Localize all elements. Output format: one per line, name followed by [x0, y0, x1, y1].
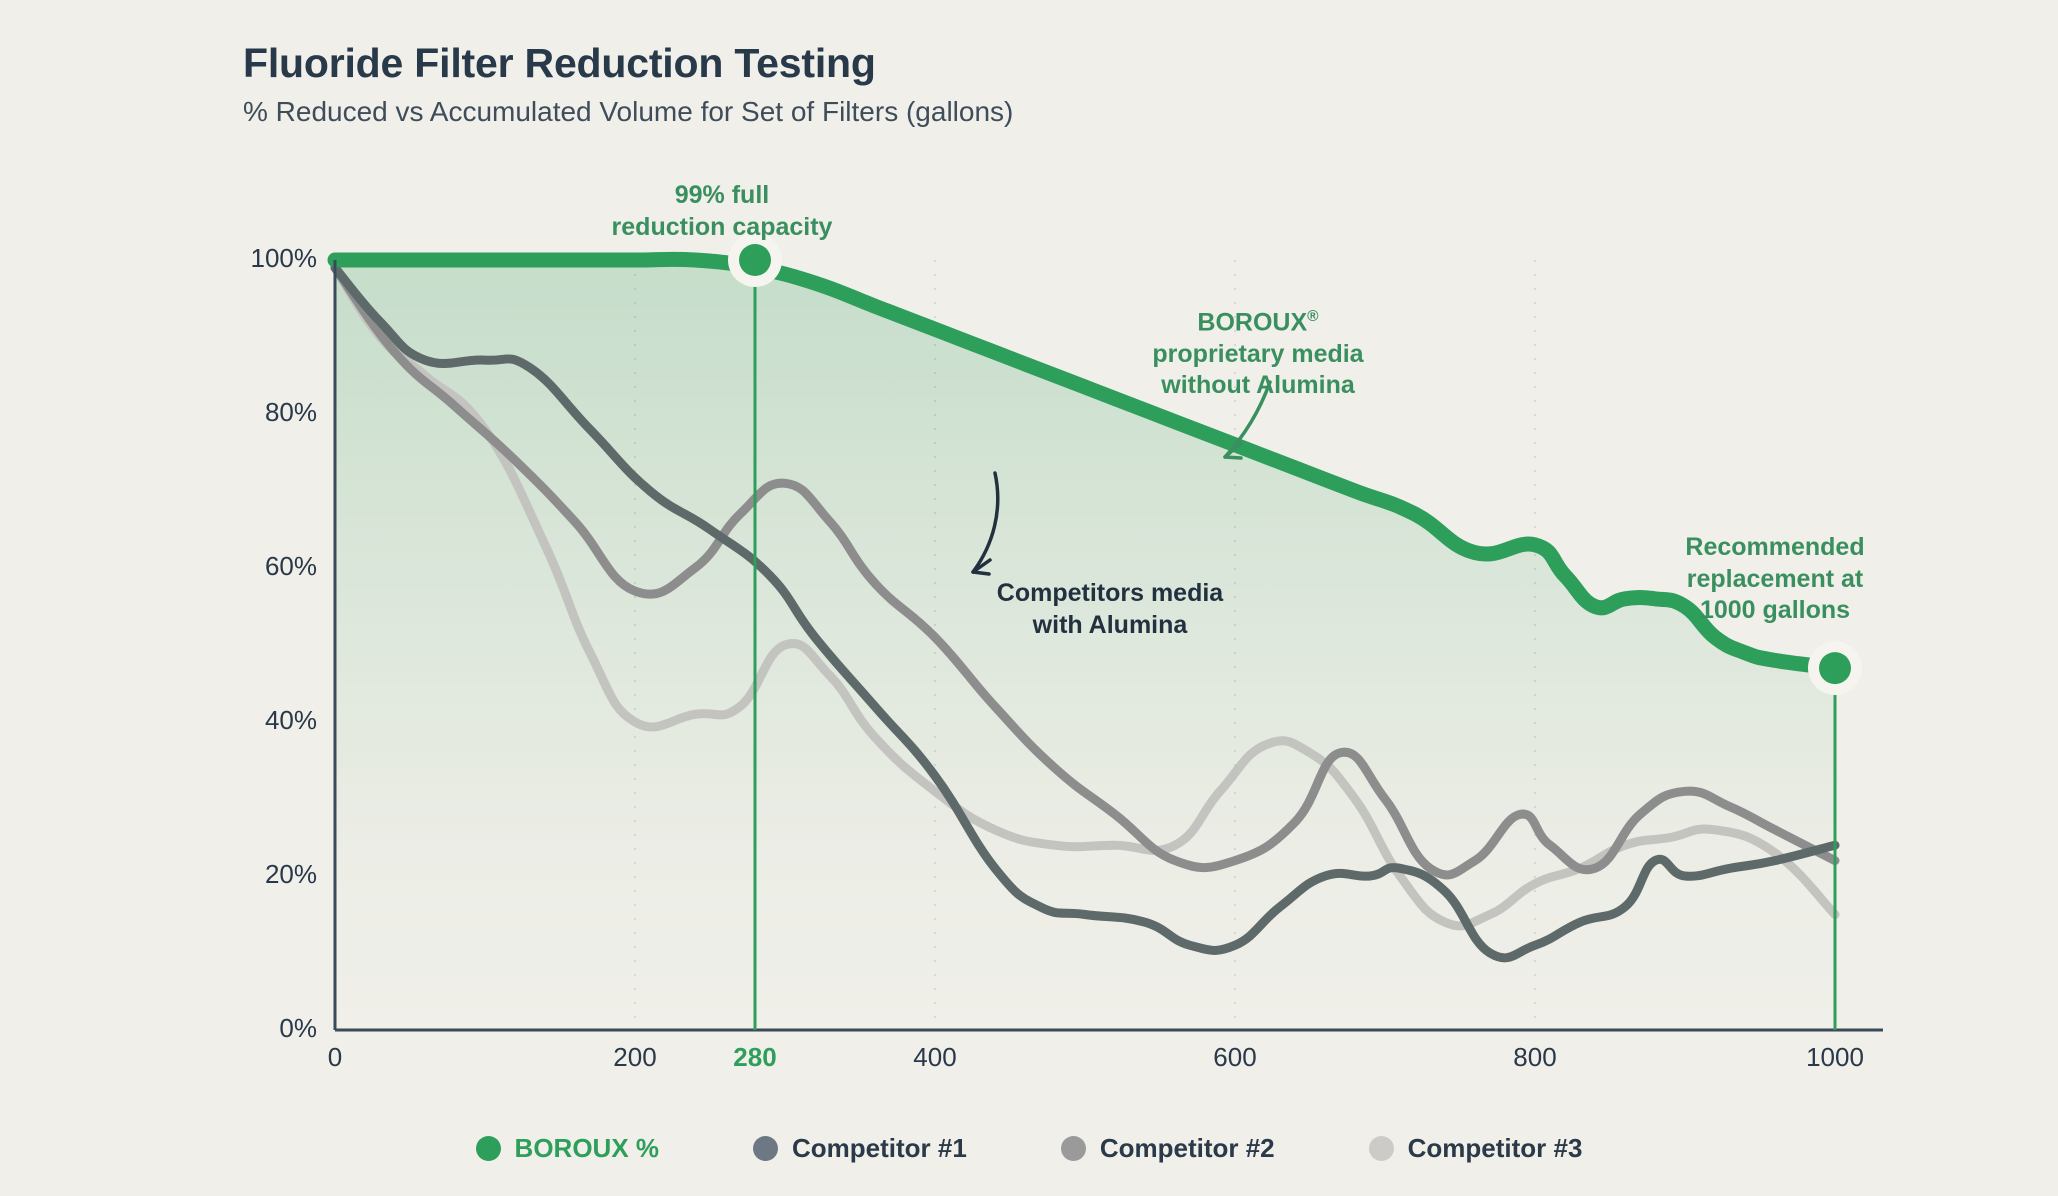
x-tick-label-600: 600 — [1175, 1042, 1295, 1073]
page-title: Fluoride Filter Reduction Testing — [243, 40, 876, 87]
legend-label: Competitor #1 — [792, 1133, 967, 1164]
legend-dot-icon — [753, 1136, 778, 1161]
x-tick-label-200: 200 — [575, 1042, 695, 1073]
legend-dot-icon — [1061, 1136, 1086, 1161]
annotation-capacity-line1: 99% full — [592, 180, 852, 212]
chart-legend: BOROUX %Competitor #1Competitor #2Compet… — [0, 1133, 2058, 1164]
annotation-boroux-line2: proprietary media — [1108, 339, 1408, 371]
annotation-boroux-line3: without Alumina — [1108, 370, 1408, 402]
annotation-boroux-line1: BOROUX® — [1108, 307, 1408, 339]
brand-name: BOROUX — [1197, 308, 1307, 336]
annotation-replacement-line2: replacement at — [1625, 564, 1925, 596]
y-tick-label-40: 40% — [207, 705, 317, 736]
legend-item-1[interactable]: Competitor #1 — [753, 1133, 967, 1164]
y-tick-label-100: 100% — [207, 243, 317, 274]
annotation-competitors-line2: with Alumina — [960, 610, 1260, 642]
legend-dot-icon — [1369, 1136, 1394, 1161]
annotation-boroux: BOROUX® proprietary media without Alumin… — [1108, 307, 1408, 402]
x-tick-label-400: 400 — [875, 1042, 995, 1073]
x-tick-label-280: 280 — [695, 1042, 815, 1073]
legend-label: Competitor #2 — [1100, 1133, 1275, 1164]
annotation-replacement-line3: 1000 gallons — [1625, 595, 1925, 627]
annotation-competitors-line1: Competitors media — [960, 578, 1260, 610]
marker-1000[interactable] — [1808, 641, 1862, 695]
y-tick-label-60: 60% — [207, 551, 317, 582]
y-tick-label-80: 80% — [207, 397, 317, 428]
page-subtitle: % Reduced vs Accumulated Volume for Set … — [243, 96, 1013, 128]
legend-item-3[interactable]: Competitor #3 — [1369, 1133, 1583, 1164]
line-chart — [335, 260, 1835, 1030]
legend-item-2[interactable]: Competitor #2 — [1061, 1133, 1275, 1164]
x-tick-label-0: 0 — [275, 1042, 395, 1073]
x-tick-label-1000: 1000 — [1775, 1042, 1895, 1073]
legend-dot-icon — [476, 1136, 501, 1161]
registered-trademark-icon: ® — [1307, 308, 1318, 325]
chart-page: Fluoride Filter Reduction Testing % Redu… — [0, 0, 2058, 1196]
plot-area — [335, 260, 1835, 1030]
annotation-replacement: Recommended replacement at 1000 gallons — [1625, 532, 1925, 627]
legend-item-0[interactable]: BOROUX % — [476, 1133, 659, 1164]
legend-label: Competitor #3 — [1408, 1133, 1583, 1164]
x-tick-label-800: 800 — [1475, 1042, 1595, 1073]
annotation-capacity: 99% full reduction capacity — [592, 180, 852, 243]
annotation-competitors: Competitors media with Alumina — [960, 578, 1260, 641]
legend-label: BOROUX % — [515, 1133, 659, 1164]
annotation-capacity-line2: reduction capacity — [592, 212, 852, 244]
annotation-replacement-line1: Recommended — [1625, 532, 1925, 564]
y-tick-label-20: 20% — [207, 859, 317, 890]
y-tick-label-0: 0% — [207, 1013, 317, 1044]
